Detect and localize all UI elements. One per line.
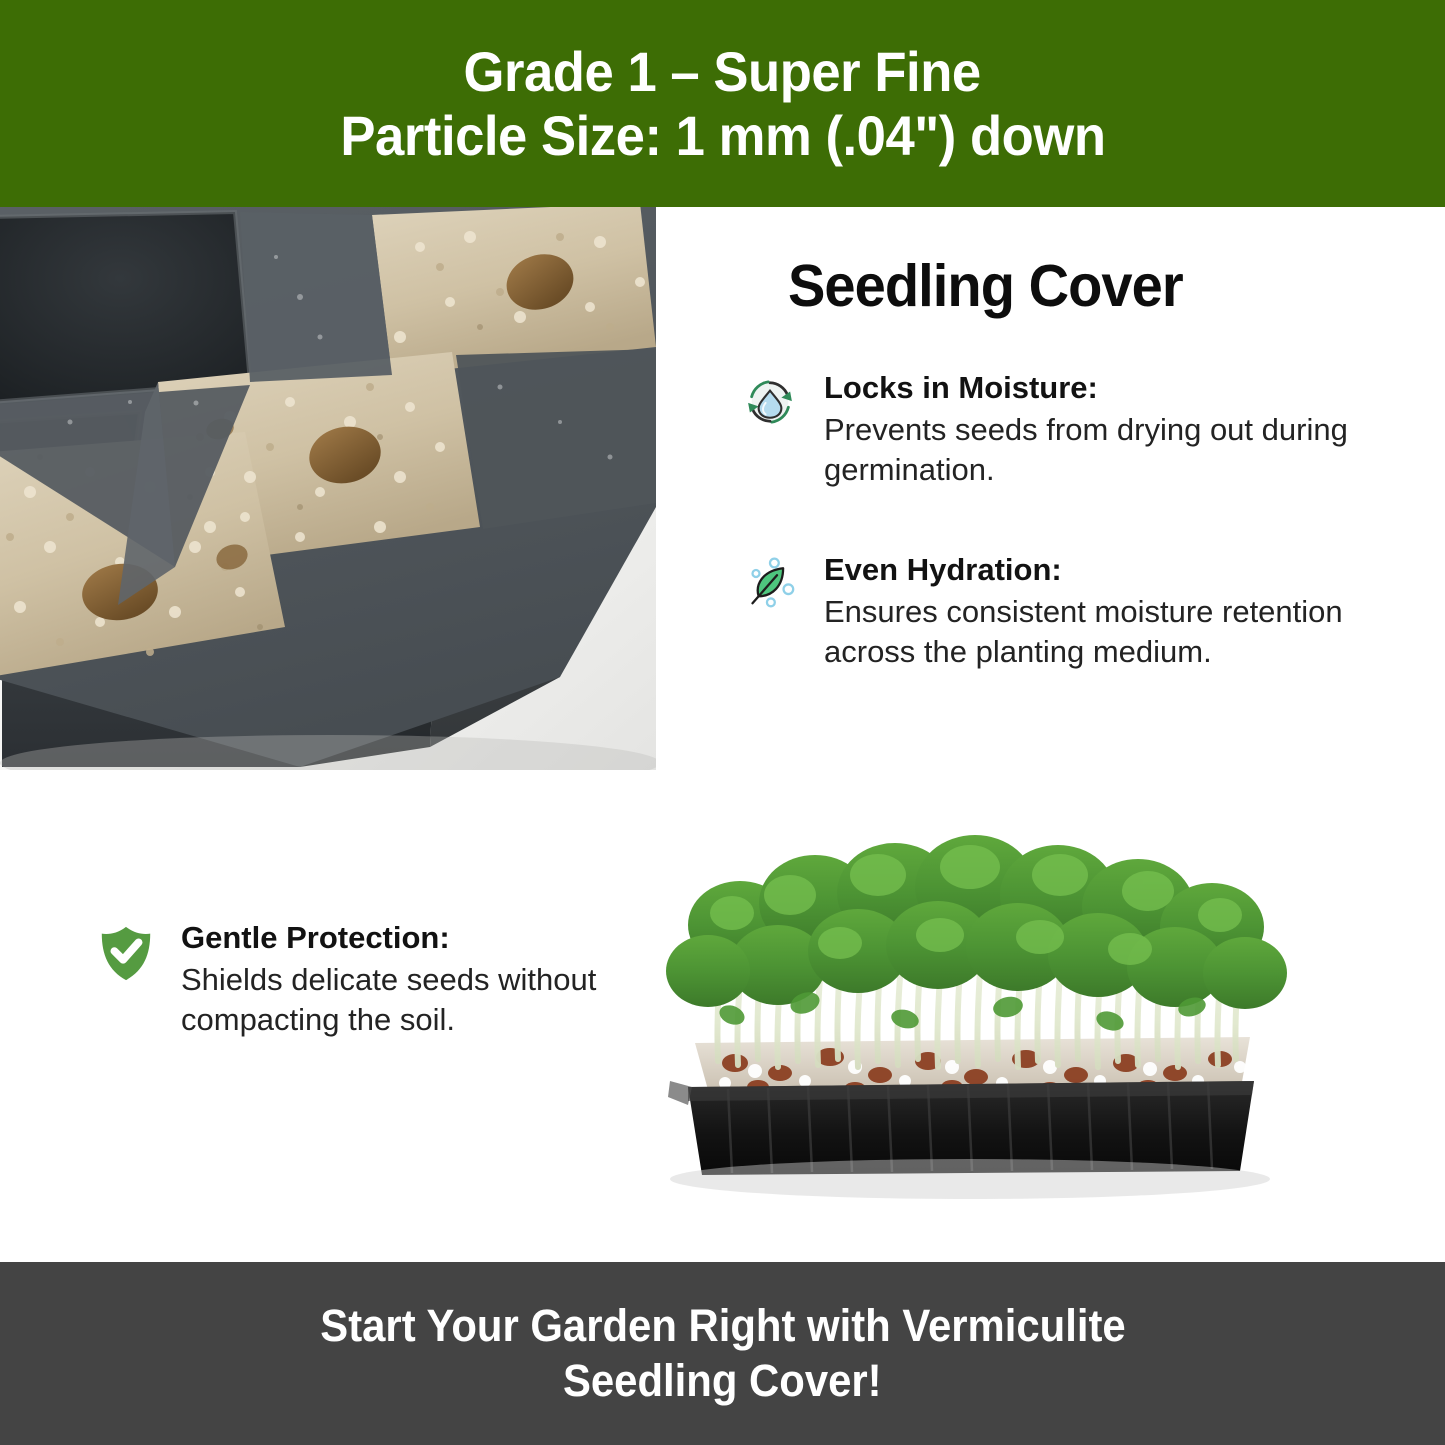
feature-even-hydration: Even Hydration: Ensures consistent moist… bbox=[742, 552, 1402, 672]
feature-title: Even Hydration: bbox=[824, 552, 1402, 589]
shield-check-icon bbox=[95, 922, 157, 984]
features-column: Seedling Cover Locks in Moisture: P bbox=[656, 207, 1445, 770]
infographic-page: Grade 1 – Super Fine Particle Size: 1 mm… bbox=[0, 0, 1445, 1445]
header-title-line-1: Grade 1 – Super Fine bbox=[464, 40, 981, 104]
feature-gentle-protection: Gentle Protection: Shields delicate seed… bbox=[95, 920, 605, 1040]
footer-cta-line-1: Start Your Garden Right with Vermiculite bbox=[320, 1299, 1125, 1354]
seed-tray-photo bbox=[0, 207, 656, 770]
feature-description: Ensures consistent moisture retention ac… bbox=[824, 592, 1402, 673]
page-title: Seedling Cover bbox=[788, 252, 1183, 320]
feature-text-block: Gentle Protection: Shields delicate seed… bbox=[181, 920, 605, 1040]
microgreens-illustration bbox=[640, 775, 1300, 1215]
footer-banner: Start Your Garden Right with Vermiculite… bbox=[0, 1262, 1445, 1445]
seed-tray-illustration bbox=[0, 207, 656, 770]
feature-text-block: Even Hydration: Ensures consistent moist… bbox=[824, 552, 1402, 672]
header-title-line-2: Particle Size: 1 mm (.04") down bbox=[340, 104, 1105, 168]
feature-description: Prevents seeds from drying out during ge… bbox=[824, 410, 1412, 491]
water-drop-recycle-icon bbox=[742, 374, 798, 430]
leaf-droplets-icon bbox=[742, 556, 798, 612]
microgreens-tray-photo bbox=[640, 775, 1300, 1215]
feature-locks-in-moisture: Locks in Moisture: Prevents seeds from d… bbox=[742, 370, 1412, 490]
header-banner: Grade 1 – Super Fine Particle Size: 1 mm… bbox=[0, 0, 1445, 207]
feature-title: Gentle Protection: bbox=[181, 920, 605, 957]
footer-cta-line-2: Seedling Cover! bbox=[563, 1354, 882, 1409]
feature-title: Locks in Moisture: bbox=[824, 370, 1412, 407]
feature-description: Shields delicate seeds without compactin… bbox=[181, 960, 605, 1041]
feature-text-block: Locks in Moisture: Prevents seeds from d… bbox=[824, 370, 1412, 490]
